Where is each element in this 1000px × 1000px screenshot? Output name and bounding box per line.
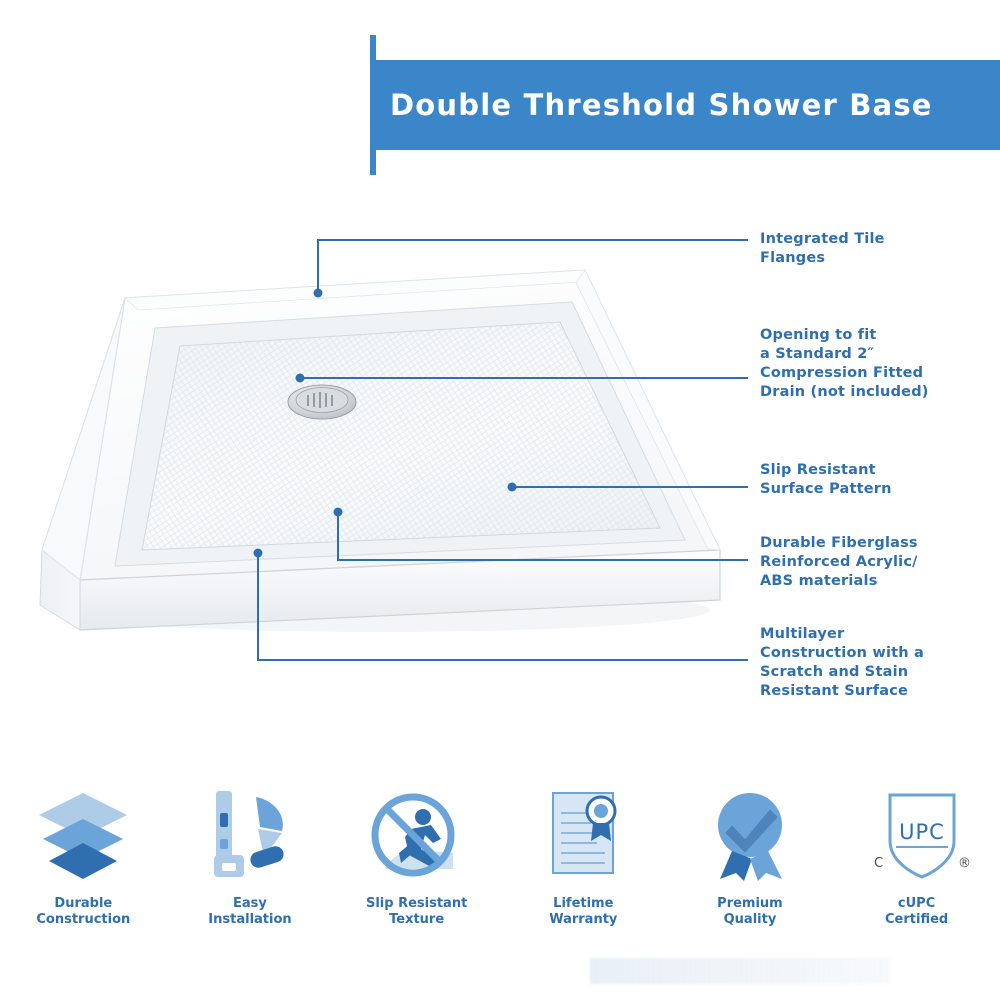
feature-premium-quality: Premium Quality <box>675 780 825 928</box>
feature-lifetime-warranty: Lifetime Warranty <box>508 780 658 928</box>
shower-base-illustration <box>20 250 740 650</box>
svg-text:UPC: UPC <box>899 820 945 844</box>
no-slip-person-icon <box>365 780 469 890</box>
tools-level-trowel-icon <box>198 780 302 890</box>
infographic-stage: Double Threshold Shower Base <box>0 0 1000 1000</box>
svg-text:®: ® <box>958 856 971 871</box>
page-title: Double Threshold Shower Base <box>370 88 933 122</box>
bottom-watermark <box>590 958 890 984</box>
header-banner: Double Threshold Shower Base <box>370 60 1000 150</box>
feature-label: Lifetime Warranty <box>549 896 617 928</box>
feature-label: Durable Construction <box>36 896 130 928</box>
check-ribbon-icon <box>698 780 802 890</box>
feature-easy-installation: Easy Installation <box>175 780 325 928</box>
feature-icon-row: Durable Construction Easy Installation <box>0 780 1000 970</box>
callout-durable-materials: Durable Fiberglass Reinforced Acrylic/ A… <box>760 534 960 591</box>
feature-cupc-certified: UPC C ® cUPC Certified <box>842 780 992 928</box>
callout-drain-opening: Opening to fit a Standard 2″ Compression… <box>760 326 970 402</box>
callout-integrated-tile-flanges: Integrated Tile Flanges <box>760 230 960 268</box>
upc-shield-icon: UPC C ® <box>862 780 972 890</box>
feature-durable-construction: Durable Construction <box>8 780 158 928</box>
layered-diamonds-icon <box>31 780 135 890</box>
feature-slip-resistant-texture: Slip Resistant Texture <box>342 780 492 928</box>
callout-slip-resistant-surface: Slip Resistant Surface Pattern <box>760 461 960 499</box>
feature-label: Premium Quality <box>717 896 783 928</box>
feature-label: cUPC Certified <box>885 896 948 928</box>
feature-label: Slip Resistant Texture <box>366 896 467 928</box>
callout-multilayer-construction: Multilayer Construction with a Scratch a… <box>760 625 960 701</box>
feature-label: Easy Installation <box>208 896 291 928</box>
warranty-certificate-icon <box>531 780 635 890</box>
svg-text:C: C <box>874 856 883 871</box>
